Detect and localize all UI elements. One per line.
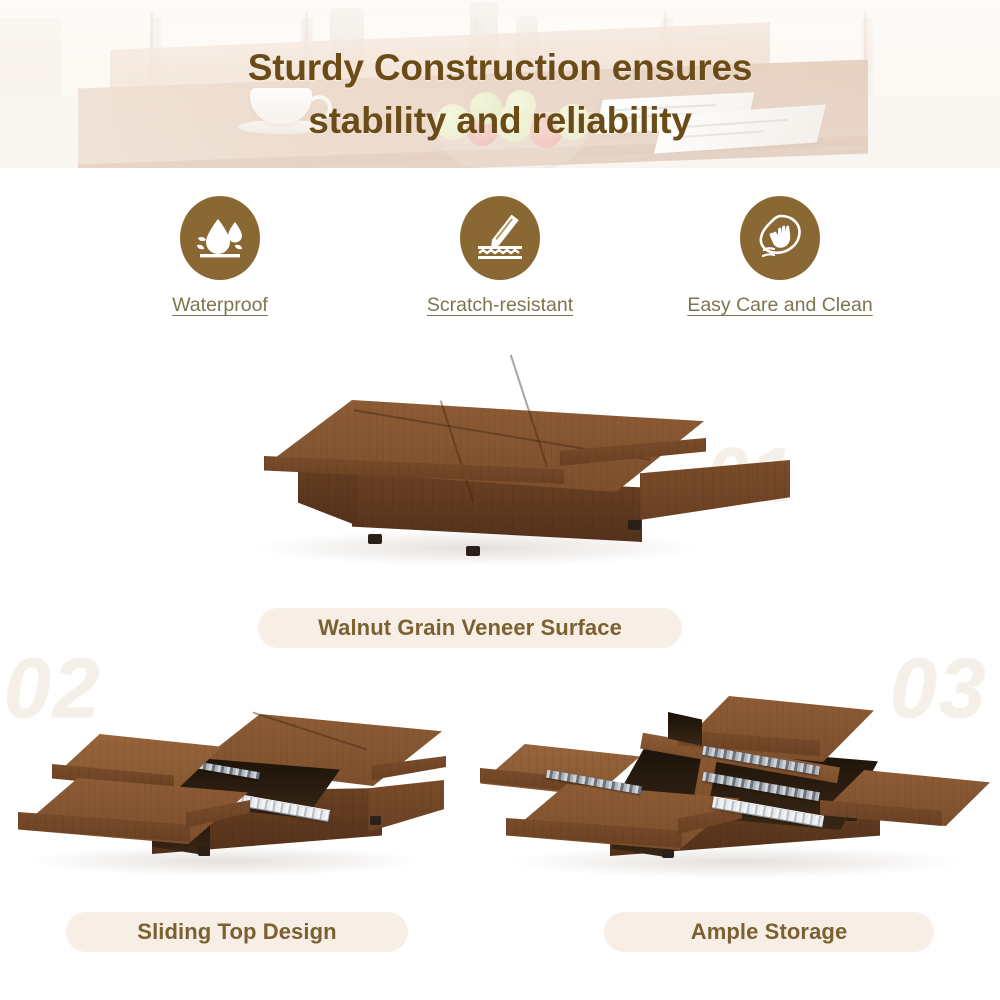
feature-easy-care-clean: Easy Care and Clean (640, 196, 920, 317)
feature-list: Waterproof Scratch-resistant (0, 196, 1000, 336)
feature-label: Waterproof (80, 294, 360, 317)
table-foot (370, 816, 381, 825)
badge-ample-storage: Ample Storage (604, 912, 934, 952)
hero-banner: Sturdy Construction ensures stability an… (0, 0, 1000, 168)
table-foot (628, 520, 641, 530)
feature-waterproof: Waterproof (80, 196, 360, 317)
page-title: Sturdy Construction ensures stability an… (0, 42, 1000, 147)
feature-label: Scratch-resistant (360, 294, 640, 317)
table-base-right (640, 460, 790, 520)
table-foot (368, 534, 382, 544)
water-drop-icon (180, 196, 260, 280)
floor-shadow (510, 846, 960, 878)
headline-line-1: Sturdy Construction ensures (0, 42, 1000, 95)
floor-shadow (30, 846, 420, 876)
badge-sliding-top-design: Sliding Top Design (66, 912, 408, 952)
badge-walnut-grain-veneer-surface: Walnut Grain Veneer Surface (258, 608, 682, 648)
product-image-sliding-top (0, 660, 470, 900)
feature-scratch-resistant: Scratch-resistant (360, 196, 640, 317)
product-image-ample-storage (490, 660, 1000, 900)
feature-label: Easy Care and Clean (640, 294, 920, 317)
hand-wiping-cloth-icon (740, 196, 820, 280)
table-foot (198, 846, 210, 856)
headline-line-2: stability and reliability (0, 95, 1000, 148)
product-image-closed-table (0, 352, 1000, 592)
blade-scratch-icon (460, 196, 540, 280)
table-foot (662, 848, 674, 858)
table-foot (466, 546, 480, 556)
